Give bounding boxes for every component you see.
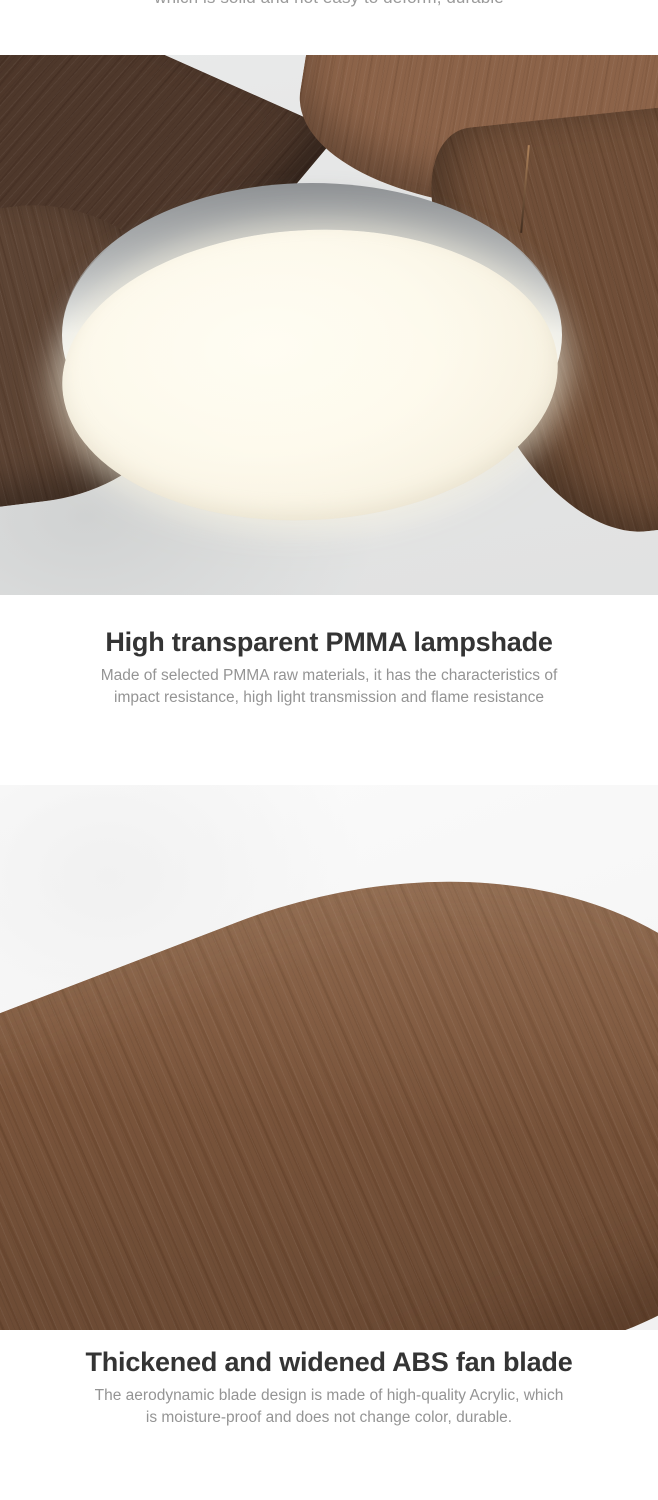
pmma-lampshade-subtitle: Made of selected PMMA raw materials, it … <box>29 665 629 709</box>
pmma-subtitle-line-2: impact resistance, high light transmissi… <box>114 689 544 706</box>
top-caption: which is solid and not easy to deform, d… <box>0 0 658 18</box>
top-caption-text: which is solid and not easy to deform, d… <box>0 0 658 8</box>
walnut-fan-blade-photo <box>0 785 658 1330</box>
abs-fan-blade-subtitle: The aerodynamic blade design is made of … <box>29 1385 629 1429</box>
pmma-subtitle-line-1: Made of selected PMMA raw materials, it … <box>101 667 558 684</box>
abs-fan-blade-text-block: Thickened and widened ABS fan blade The … <box>0 1348 658 1429</box>
pmma-lampshade-text-block: High transparent PMMA lampshade Made of … <box>0 628 658 709</box>
ceiling-fan-lampshade-photo <box>0 55 658 595</box>
abs-subtitle-line-1: The aerodynamic blade design is made of … <box>95 1387 564 1404</box>
abs-fan-blade-title: Thickened and widened ABS fan blade <box>0 1348 658 1378</box>
pmma-lampshade-title: High transparent PMMA lampshade <box>0 628 658 658</box>
abs-subtitle-line-2: is moisture-proof and does not change co… <box>146 1409 512 1426</box>
